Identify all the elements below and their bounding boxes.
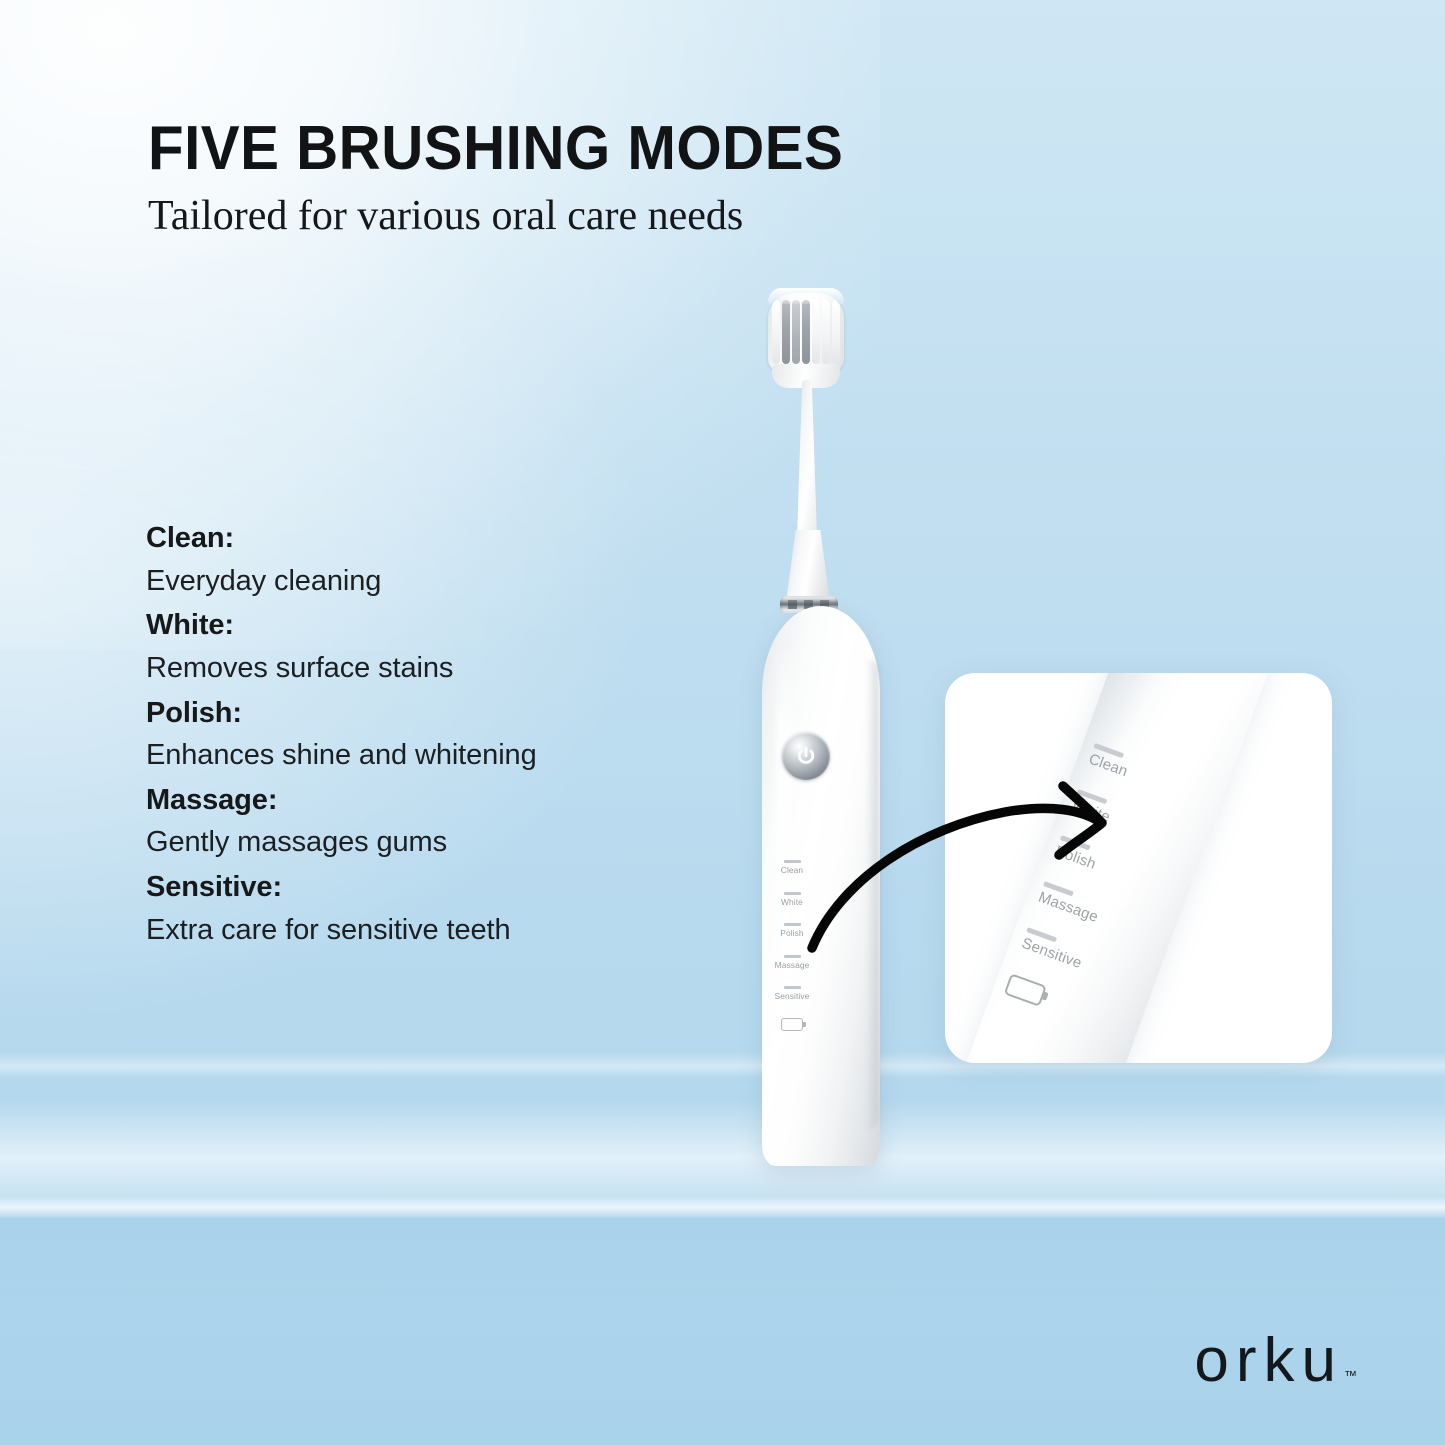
bristle: [792, 300, 800, 364]
list-item: Massage: Gently massages gums: [146, 779, 706, 864]
device-mode-white: White: [764, 892, 820, 907]
mode-indicator-dash: [784, 892, 801, 895]
bristle: [802, 300, 810, 364]
mode-indicator-dash: [784, 955, 801, 958]
inset-mode-polish: Polish: [1053, 835, 1120, 880]
mode-indicator-dash: [784, 986, 801, 989]
inset-mode-white: White: [1070, 789, 1137, 834]
page-subtitle: Tailored for various oral care needs: [148, 194, 888, 238]
page-title: FIVE BRUSHING MODES: [148, 118, 843, 180]
list-item: Clean: Everyday cleaning: [146, 517, 706, 602]
bristle: [782, 300, 790, 364]
brush-head-top-highlight: [768, 288, 844, 304]
power-icon: [795, 745, 817, 767]
bristle: [822, 300, 830, 364]
mode-name-massage: Massage:: [146, 779, 706, 822]
bristle: [812, 300, 820, 364]
mode-desc-sensitive: Extra care for sensitive teeth: [146, 909, 706, 952]
list-item: Polish: Enhances shine and whitening: [146, 692, 706, 777]
device-mode-sensitive: Sensitive: [764, 986, 820, 1001]
bristle: [832, 300, 840, 364]
inset-stage: Clean White Polish Massage Sensitive: [945, 673, 1332, 1063]
trademark-symbol: ™: [1344, 1368, 1357, 1383]
magnified-panel-inset: Clean White Polish Massage Sensitive: [945, 673, 1332, 1063]
modes-list: Clean: Everyday cleaning White: Removes …: [146, 517, 706, 953]
list-item: White: Removes surface stains: [146, 604, 706, 689]
brush-head-bristles: [768, 293, 844, 371]
toothbrush-product-image: Clean White Polish Massage Sensitive: [700, 280, 960, 1190]
mode-name-white: White:: [146, 604, 706, 647]
battery-icon: [781, 1018, 803, 1031]
list-item: Sensitive: Extra care for sensitive teet…: [146, 866, 706, 951]
power-button[interactable]: [782, 732, 830, 780]
mode-indicator-dash: [784, 860, 801, 863]
mode-name-clean: Clean:: [146, 517, 706, 560]
brand-name: orku: [1194, 1333, 1343, 1389]
brush-neck-lower: [786, 530, 830, 602]
device-mode-label: Sensitive: [764, 991, 820, 1001]
brush-body-edge-shadow: [866, 660, 879, 1130]
device-mode-label: White: [764, 897, 820, 907]
mode-indicator-dash: [784, 923, 801, 926]
device-mode-clean: Clean: [764, 860, 820, 875]
inset-mode-massage: Massage: [1036, 881, 1103, 926]
device-mode-panel: Clean White Polish Massage Sensitive: [764, 860, 820, 1031]
chrome-segment: [788, 600, 797, 609]
brand-logo: orku ™: [1194, 1333, 1357, 1389]
infographic-canvas: FIVE BRUSHING MODES Tailored for various…: [0, 0, 1445, 1445]
mode-name-sensitive: Sensitive:: [146, 866, 706, 909]
device-mode-label: Clean: [764, 865, 820, 875]
device-mode-label: Massage: [764, 960, 820, 970]
bristle: [772, 300, 780, 364]
mode-name-polish: Polish:: [146, 692, 706, 735]
device-mode-massage: Massage: [764, 955, 820, 970]
mode-desc-massage: Gently massages gums: [146, 821, 706, 864]
device-mode-label: Polish: [764, 928, 820, 938]
mode-desc-polish: Enhances shine and whitening: [146, 734, 706, 777]
header-block: FIVE BRUSHING MODES Tailored for various…: [148, 118, 888, 238]
device-mode-polish: Polish: [764, 923, 820, 938]
mode-desc-white: Removes surface stains: [146, 647, 706, 690]
inset-mode-sensitive: Sensitive: [1019, 927, 1086, 972]
mode-desc-clean: Everyday cleaning: [146, 560, 706, 603]
